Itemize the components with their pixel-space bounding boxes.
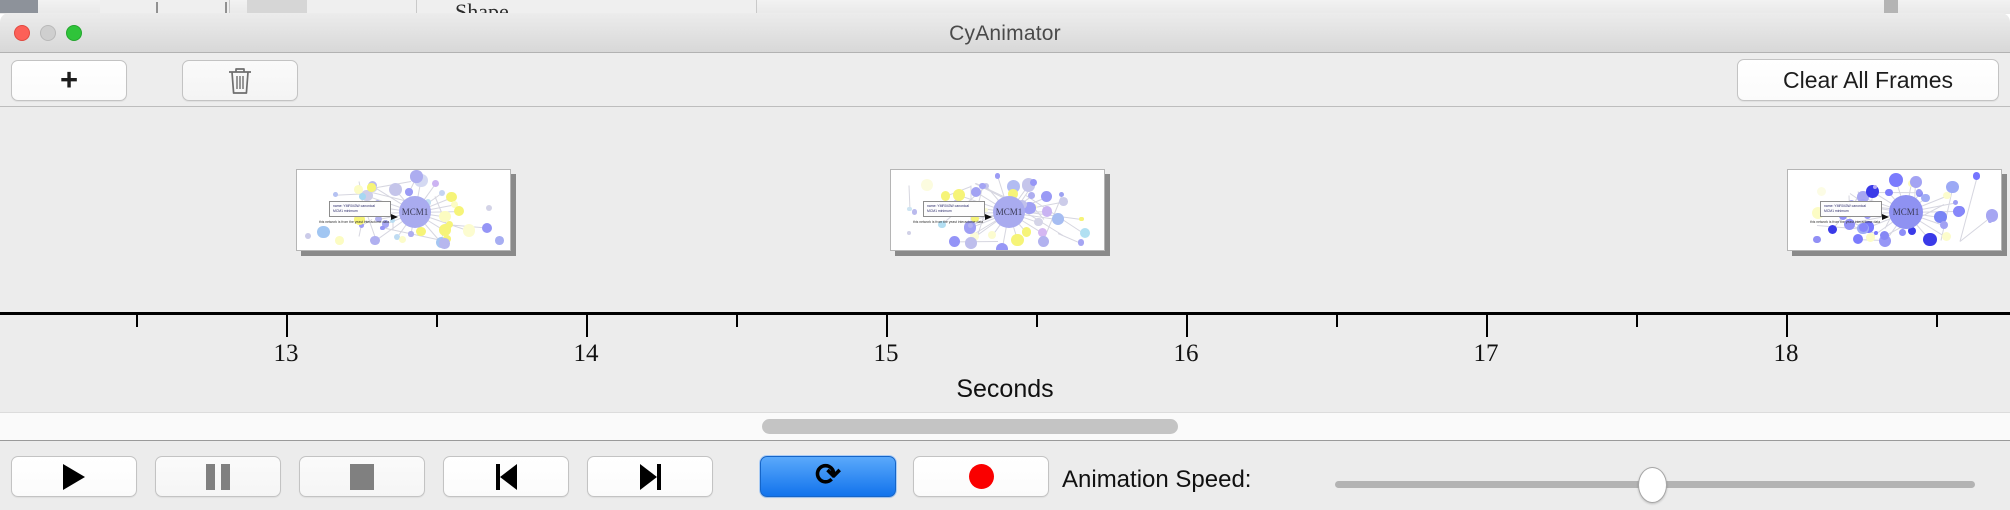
network-node [1042,206,1053,217]
tick-label: 17 [1474,340,1499,368]
network-thumbnail: MCM1name: YMR043W canonicalMCM1 minimumt… [1788,170,2001,250]
network-caption: this network is from the yeast interacto… [1810,220,1880,224]
network-tooltip-pointer [391,214,398,220]
tick-label: 16 [1174,340,1199,368]
skip-forward-icon [640,464,661,490]
network-node [1041,191,1052,202]
network-node [1011,234,1024,247]
network-node [1052,213,1064,225]
network-node [446,225,451,230]
network-node [996,243,1008,251]
stop-icon [350,464,374,490]
tick-minor [1336,315,1338,327]
timeline-panel[interactable]: MCM1name: YMR043W canonicalMCM1 minimumt… [0,107,2010,412]
network-node [1940,221,1948,229]
network-node [1080,228,1090,238]
network-node [921,179,933,191]
tick-minor [736,315,738,327]
clear-all-frames-button[interactable]: Clear All Frames [1737,59,1999,101]
network-node [439,190,445,196]
background-glyphs: ǀ ǀ [155,0,258,14]
network-node [1953,206,1964,217]
tick-major [1786,315,1788,337]
clear-all-frames-label: Clear All Frames [1783,67,1953,94]
network-node [317,226,329,238]
network-node [1988,219,1992,223]
network-tooltip-line: MCM1 minimum [1824,209,1878,214]
network-node [482,223,492,233]
network-tooltip: name: YMR043W canonicalMCM1 minimum [923,201,985,217]
tick-minor [1936,315,1938,327]
transport-bar: ⟳ Animation Speed: [0,440,2010,510]
tick-label: 14 [574,340,599,368]
pause-icon [206,464,230,490]
network-node [1828,225,1837,234]
network-node [1942,232,1951,241]
play-icon [63,464,85,490]
tick-minor [436,315,438,327]
loop-button[interactable]: ⟳ [760,456,896,497]
tick-label: 18 [1774,340,1799,368]
window-title: CyAnimator [0,22,2010,46]
network-caption: this network is from the yeast interacto… [319,220,389,224]
tick-major [286,315,288,337]
skip-backward-icon [496,464,517,490]
title-bar: CyAnimator [0,13,2010,53]
toolbar: + Clear All Frames [0,53,2010,107]
network-node [333,192,338,197]
network-thumbnail: MCM1name: YMR043W canonicalMCM1 minimumt… [891,170,1104,250]
network-node [405,188,413,196]
tick-label: 15 [874,340,899,368]
network-node [1921,194,1930,203]
cyanimator-window: ǀ ǀ Shape CyAnimator + Clear All Frames … [0,0,2010,510]
background-window-strip: ǀ ǀ Shape [0,0,2010,14]
network-node [979,183,985,189]
network-node [1899,229,1906,236]
tick-minor [1636,315,1638,327]
network-node [912,209,917,214]
network-node [367,183,375,191]
network-node [941,191,951,201]
network-tooltip-line: MCM1 minimum [333,209,387,214]
network-node [410,170,422,182]
tick-minor [1036,315,1038,327]
network-tooltip: name: YMR043W canonicalMCM1 minimum [329,201,391,217]
network-node [370,236,380,246]
network-edge [908,185,910,209]
network-caption: this network is from the yeast interacto… [913,220,983,224]
skip-to-end-button[interactable] [587,456,713,497]
network-node [1022,227,1032,237]
network-node [416,227,425,236]
network-node [1916,189,1922,195]
plus-icon: + [60,64,78,95]
background-notch [1884,0,1898,13]
animation-speed-slider-thumb[interactable] [1638,467,1667,503]
network-hub-node: MCM1 [993,196,1025,228]
network-node [495,236,504,245]
network-node [463,224,475,236]
network-node [1910,176,1922,188]
frame-18s[interactable]: MCM1name: YMR043W canonicalMCM1 minimumt… [1787,169,2002,251]
network-node [907,231,911,235]
network-node [988,231,996,239]
network-node [949,236,960,247]
network-tooltip: name: YMR043W canonicalMCM1 minimum [1820,201,1882,217]
add-frame-button[interactable]: + [11,60,127,101]
network-node [380,226,384,230]
network-node [953,189,965,201]
network-hub-node: MCM1 [1889,195,1923,229]
network-node [1953,200,1958,205]
network-node [1038,236,1049,247]
network-node [1946,181,1958,193]
network-node [1079,217,1084,222]
network-node [1030,179,1037,186]
tick-label: 13 [274,340,299,368]
network-node [439,238,449,248]
network-node [1059,197,1068,206]
network-node [1853,234,1863,244]
network-node [454,206,464,216]
network-node [1874,231,1878,235]
network-node [359,193,366,200]
network-node [1028,192,1035,199]
frame-15s[interactable]: MCM1name: YMR043W canonicalMCM1 minimumt… [890,169,1105,251]
network-thumbnail: MCM1name: YMR043W canonicalMCM1 minimumt… [297,170,510,250]
network-node [399,236,406,243]
network-node [1923,233,1936,246]
animation-speed-label: Animation Speed: [1062,466,1251,494]
network-node [965,237,977,249]
background-tab-dark [0,0,38,13]
network-node [1817,187,1826,196]
network-node [305,233,311,239]
stop-button [299,456,425,497]
record-button[interactable] [913,456,1049,497]
tick-major [886,315,888,337]
network-node [1078,239,1085,246]
network-tooltip-line: MCM1 minimum [927,209,981,214]
skip-to-start-button[interactable] [443,456,569,497]
network-node [432,180,439,187]
network-node [486,205,492,211]
network-node [1813,236,1820,243]
timeline-axis [0,312,2010,315]
network-node [1973,172,1981,180]
timeline-scrollbar-thumb[interactable] [762,419,1178,434]
axis-title: Seconds [0,375,2010,404]
timeline-scrollbar[interactable] [0,412,2010,440]
network-node [1034,218,1043,227]
frame-13s[interactable]: MCM1name: YMR043W canonicalMCM1 minimumt… [296,169,511,251]
tick-major [586,315,588,337]
play-button[interactable] [11,456,137,497]
tick-minor [136,315,138,327]
network-node [995,173,1000,178]
delete-frame-button[interactable] [182,60,298,101]
loop-icon: ⟳ [815,459,841,490]
trash-icon [227,66,253,96]
tick-major [1186,315,1188,337]
pause-button [155,456,281,497]
network-node [408,231,413,236]
network-node [1889,173,1903,187]
network-tooltip-pointer [1882,214,1889,220]
tick-major [1486,315,1488,337]
network-node [335,236,344,245]
network-tooltip-pointer [985,214,992,220]
record-icon [969,464,994,489]
network-hub-node: MCM1 [399,196,431,228]
